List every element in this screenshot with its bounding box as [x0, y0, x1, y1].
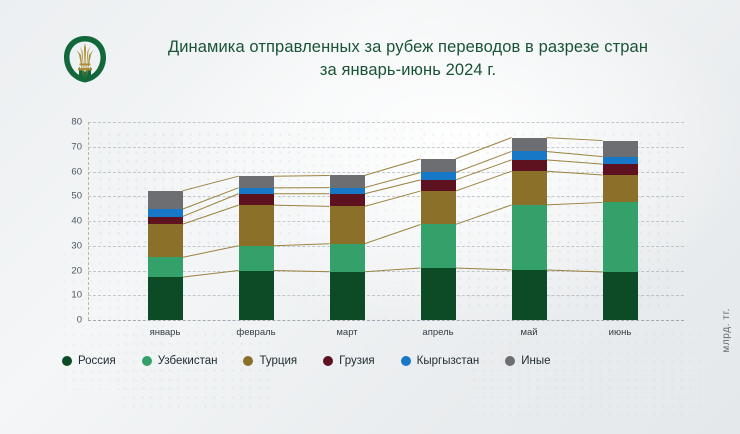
connector-line: [365, 191, 421, 206]
bar-segment-Грузия[interactable]: [512, 160, 547, 171]
bar-segment-Узбекистан[interactable]: [239, 246, 274, 271]
legend-label: Иные: [521, 355, 550, 367]
bar-segment-Россия[interactable]: [239, 271, 274, 321]
connector-line: [365, 159, 421, 176]
bar-segment-Грузия[interactable]: [148, 217, 183, 225]
bar-segment-Узбекистан[interactable]: [421, 224, 456, 268]
bar-segment-Иные[interactable]: [148, 191, 183, 209]
bar-segment-Иные[interactable]: [239, 176, 274, 188]
bar-segment-Иные[interactable]: [421, 159, 456, 173]
y-axis-tick-label: 0: [58, 315, 82, 326]
bar-segment-Турция[interactable]: [512, 171, 547, 205]
connector-line: [547, 160, 603, 164]
legend-label: Турция: [259, 355, 297, 367]
legend-item-Грузия[interactable]: Грузия: [323, 355, 375, 367]
legend-label: Узбекистан: [158, 355, 218, 367]
y-axis-tick-label: 80: [58, 117, 82, 128]
legend-item-Турция[interactable]: Турция: [243, 355, 297, 367]
bar-segment-Россия[interactable]: [330, 272, 365, 320]
connector-line: [547, 138, 603, 141]
bar-segment-Турция[interactable]: [148, 224, 183, 257]
legend-item-Узбекистан[interactable]: Узбекистан: [142, 355, 218, 367]
page-title-line-2: за январь-июнь 2024 г.: [320, 61, 496, 79]
bar-segment-Россия[interactable]: [421, 268, 456, 320]
bar-segment-Грузия[interactable]: [603, 164, 638, 175]
bar-апрель[interactable]: [421, 112, 456, 320]
bar-segment-Россия[interactable]: [512, 270, 547, 320]
connector-line: [274, 175, 330, 176]
chart-legend: РоссияУзбекистанТурцияГрузияКыргызстанИн…: [0, 348, 740, 374]
y-axis-line: [88, 122, 89, 320]
connector-line: [456, 138, 512, 159]
connector-line: [183, 176, 239, 191]
bar-segment-Турция[interactable]: [239, 205, 274, 246]
x-axis-label-июнь: июнь: [580, 327, 660, 338]
bar-segment-Россия[interactable]: [148, 277, 183, 320]
legend-color-swatch-icon: [323, 356, 333, 366]
legend-color-swatch-icon: [401, 356, 411, 366]
y-axis-tick-label: 70: [58, 141, 82, 152]
connector-line: [547, 151, 603, 156]
bar-segment-Кыргызстан[interactable]: [512, 151, 547, 159]
connector-line: [456, 151, 512, 172]
y-axis-title: млрд. тг.: [721, 308, 732, 353]
bar-segment-Турция[interactable]: [330, 206, 365, 243]
bar-segment-Россия[interactable]: [603, 272, 638, 320]
y-axis-tick-label: 60: [58, 166, 82, 177]
bar-segment-Турция[interactable]: [603, 175, 638, 202]
connector-line: [456, 171, 512, 191]
connector-line: [365, 224, 421, 243]
page-title: Динамика отправленных за рубеж переводов…: [108, 36, 708, 82]
legend-label: Грузия: [339, 355, 375, 367]
legend-color-swatch-icon: [62, 356, 72, 366]
bar-segment-Иные[interactable]: [330, 175, 365, 187]
x-axis-label-апрель: апрель: [398, 327, 478, 338]
x-axis-label-февраль: февраль: [216, 327, 296, 338]
bar-segment-Турция[interactable]: [421, 191, 456, 224]
connector-line: [365, 180, 421, 194]
bar-segment-Узбекистан[interactable]: [148, 257, 183, 277]
bar-январь[interactable]: [148, 112, 183, 320]
bar-segment-Кыргызстан[interactable]: [603, 157, 638, 164]
y-axis-tick-label: 10: [58, 290, 82, 301]
connector-line: [274, 205, 330, 206]
x-axis-label-январь: январь: [125, 327, 205, 338]
bar-segment-Узбекистан[interactable]: [512, 205, 547, 270]
y-axis-tick-label: 20: [58, 265, 82, 276]
connector-line: [183, 271, 239, 278]
y-axis-tick-label: 30: [58, 240, 82, 251]
connector-line: [456, 160, 512, 180]
slide-header: Динамика отправленных за рубеж переводов…: [0, 0, 740, 112]
bar-segment-Узбекистан[interactable]: [330, 244, 365, 272]
bar-segment-Иные[interactable]: [603, 141, 638, 157]
x-axis-label-май: май: [489, 327, 569, 338]
y-axis-tick-label: 40: [58, 216, 82, 227]
bar-segment-Кыргызстан[interactable]: [148, 209, 183, 216]
bar-segment-Иные[interactable]: [512, 138, 547, 152]
bar-segment-Кыргызстан[interactable]: [239, 188, 274, 194]
gridline: [88, 320, 684, 321]
bar-segment-Узбекистан[interactable]: [603, 202, 638, 272]
bar-segment-Грузия[interactable]: [330, 194, 365, 207]
national-bank-kazakhstan-logo-icon: [62, 34, 108, 84]
bar-segment-Кыргызстан[interactable]: [330, 188, 365, 194]
legend-color-swatch-icon: [505, 356, 515, 366]
legend-label: Кыргызстан: [417, 355, 480, 367]
legend-label: Россия: [78, 355, 116, 367]
legend-item-Россия[interactable]: Россия: [62, 355, 116, 367]
legend-color-swatch-icon: [243, 356, 253, 366]
bar-июнь[interactable]: [603, 112, 638, 320]
y-axis-tick-label: 50: [58, 191, 82, 202]
connector-line: [183, 188, 239, 209]
connector-line: [183, 246, 239, 258]
bar-май[interactable]: [512, 112, 547, 320]
slide-root: Динамика отправленных за рубеж переводов…: [0, 0, 740, 434]
bar-segment-Грузия[interactable]: [421, 180, 456, 191]
bar-март[interactable]: [330, 112, 365, 320]
legend-color-swatch-icon: [142, 356, 152, 366]
connector-line: [547, 202, 603, 204]
legend-item-Кыргызстан[interactable]: Кыргызстан: [401, 355, 480, 367]
page-title-line-1: Динамика отправленных за рубеж переводов…: [168, 38, 648, 56]
x-axis-label-март: март: [307, 327, 387, 338]
connector-line: [365, 172, 421, 187]
bar-segment-Кыргызстан[interactable]: [421, 172, 456, 179]
chart-plot-area: 01020304050607080 январьфевральмартапрел…: [0, 112, 740, 350]
bar-февраль[interactable]: [239, 112, 274, 320]
bar-segment-Грузия[interactable]: [239, 194, 274, 205]
legend-item-Иные[interactable]: Иные: [505, 355, 550, 367]
